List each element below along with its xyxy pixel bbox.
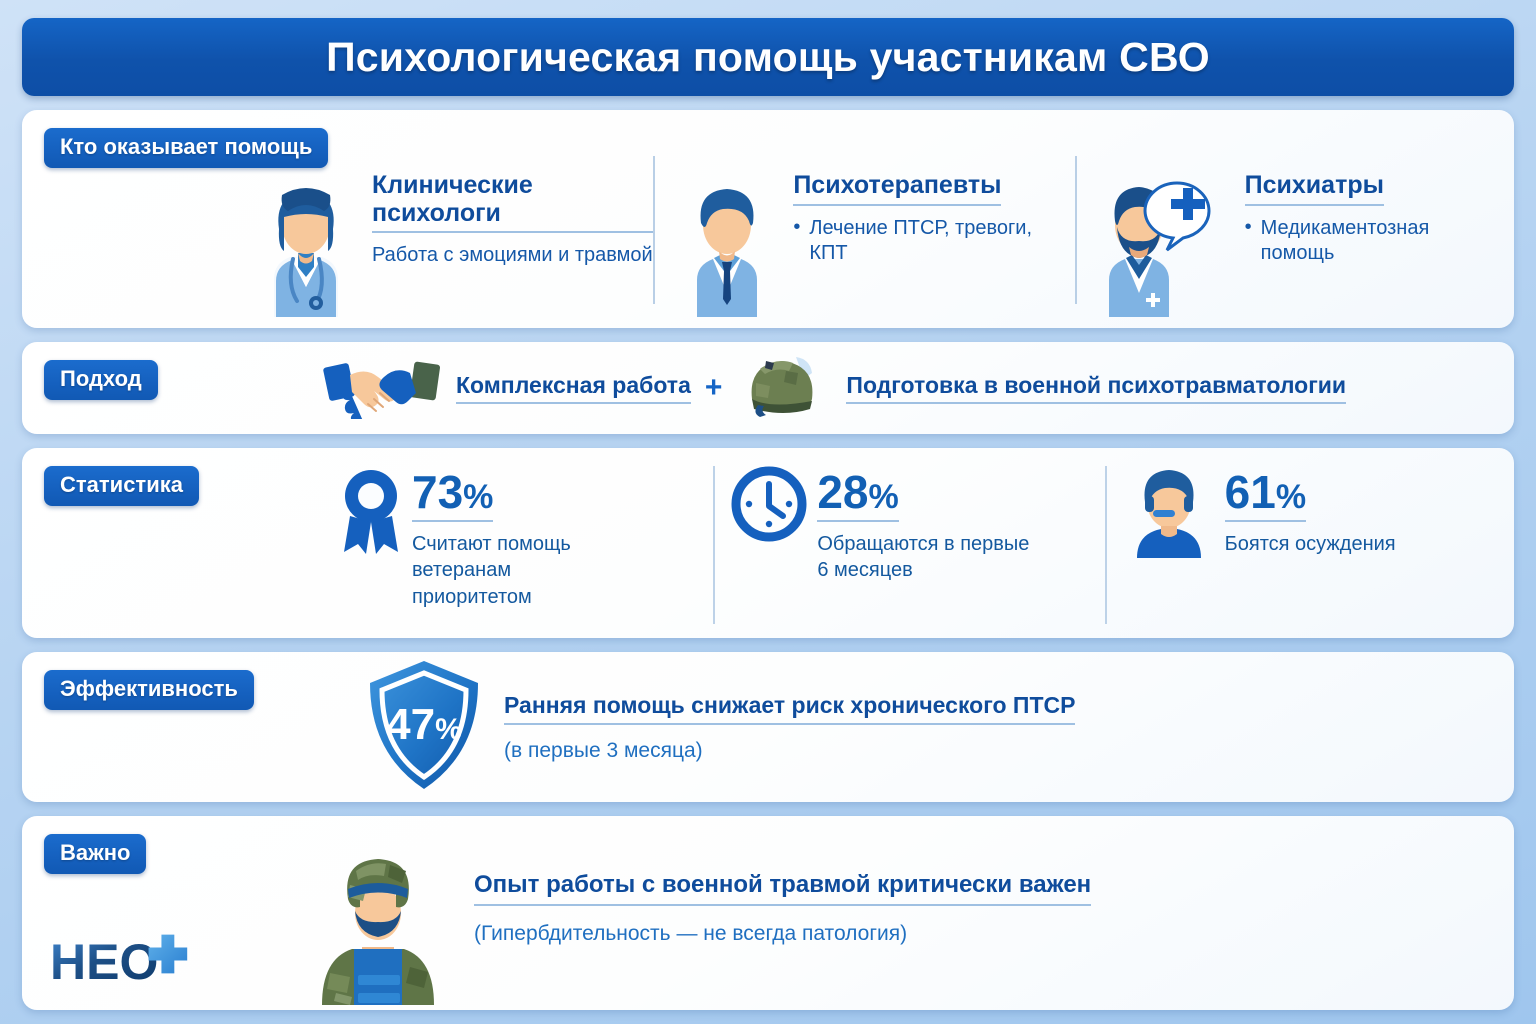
military-helmet-icon xyxy=(736,353,832,424)
important-row: Опыт работы с военной травмой критически… xyxy=(302,816,1496,1010)
section-badge-important: Важно xyxy=(44,834,146,874)
stat-value: 61% xyxy=(1225,470,1306,522)
clock-icon xyxy=(731,466,807,547)
plus-symbol: + xyxy=(705,371,723,405)
card-providers: Кто оказывает помощь xyxy=(22,110,1514,328)
stat-value: 28% xyxy=(817,470,898,522)
statistics-list: 73% Считают помощь ветеранам приоритетом… xyxy=(322,458,1496,630)
svg-text:НЕО: НЕО xyxy=(50,934,158,990)
effectiveness-row: 47% Ранняя помощь снижает риск хроническ… xyxy=(362,652,1496,802)
provider-text-block: Психотерапевты Лечение ПТСР, тревоги, КП… xyxy=(793,144,1074,267)
provider-bullet: Медикаментозная помощь xyxy=(1245,216,1496,267)
card-effectiveness: Эффективность 47% Ранн xyxy=(22,652,1514,802)
female-clinical-psychologist-icon xyxy=(246,167,366,322)
approach-row: Комплексная работа + Подготовка в военно… xyxy=(322,342,1496,434)
provider-bullets: Медикаментозная помощь xyxy=(1245,216,1496,267)
provider-title: Психиатры xyxy=(1245,172,1384,206)
approach-left-text: Комплексная работа xyxy=(456,372,691,404)
card-important: Важно xyxy=(22,816,1514,1010)
provider-title: Клинические психологи xyxy=(372,172,653,233)
card-approach: Подход Комплексная работа + xyxy=(22,342,1514,434)
stat-label: Обращаются в первые 6 месяцев xyxy=(817,531,1032,584)
section-badge-approach: Подход xyxy=(44,360,158,400)
important-text: Опыт работы с военной травмой критически… xyxy=(474,871,1091,956)
stat-item-fear-judgement: 61% Боятся осуждения xyxy=(1105,458,1496,638)
stat-item-priority: 73% Считают помощь ветеранам приоритетом xyxy=(322,458,713,638)
handshake-icon xyxy=(322,353,442,424)
soldier-icon xyxy=(302,855,454,1010)
provider-title: Психотерапевты xyxy=(793,172,1001,206)
provider-text-block: Клинические психологи Работа с эмоциями … xyxy=(372,144,653,269)
neo-plus-logo: НЕО xyxy=(48,933,208,996)
stat-body: 28% Обращаются в первые 6 месяцев xyxy=(817,466,1032,584)
effectiveness-subtext: (в первые 3 месяца) xyxy=(504,739,1075,763)
provider-description: Работа с эмоциями и травмой xyxy=(372,243,653,269)
stat-item-first-months: 28% Обращаются в первые 6 месяцев xyxy=(713,458,1104,638)
stat-value: 73% xyxy=(412,470,493,522)
provider-psychotherapists: Психотерапевты Лечение ПТСР, тревоги, КП… xyxy=(653,144,1074,322)
provider-text-block: Психиатры Медикаментозная помощь xyxy=(1245,144,1496,267)
shield-icon: 47% xyxy=(362,657,486,798)
stat-body: 61% Боятся осуждения xyxy=(1225,466,1396,557)
effectiveness-headline: Ранняя помощь снижает риск хронического … xyxy=(504,692,1075,725)
stat-label: Боятся осуждения xyxy=(1225,531,1396,557)
page-header: Психологическая помощь участникам СВО xyxy=(22,18,1514,96)
important-subtext: (Гипербдительность — не всегда патология… xyxy=(474,922,1091,946)
section-badge-statistics: Статистика xyxy=(44,466,199,506)
effectiveness-text: Ранняя помощь снижает риск хронического … xyxy=(504,692,1075,763)
card-statistics: Статистика 73% Считают помощь ветеранам … xyxy=(22,448,1514,638)
male-psychotherapist-icon xyxy=(667,167,787,322)
infographic-page: Психологическая помощь участникам СВО Кт… xyxy=(0,0,1536,1024)
stat-label: Считают помощь ветеранам приоритетом xyxy=(412,531,627,610)
person-headset-icon xyxy=(1123,466,1215,563)
section-badge-effectiveness: Эффективность xyxy=(44,670,254,710)
stat-body: 73% Считают помощь ветеранам приоритетом xyxy=(412,466,627,610)
provider-clinical-psychologists: Клинические психологи Работа с эмоциями … xyxy=(232,144,653,322)
provider-psychiatrists: Психиатры Медикаментозная помощь xyxy=(1075,144,1496,322)
important-headline: Опыт работы с военной травмой критически… xyxy=(474,871,1091,906)
provider-bullet: Лечение ПТСР, тревоги, КПТ xyxy=(793,216,1074,267)
page-title: Психологическая помощь участникам СВО xyxy=(326,34,1210,81)
bearded-psychiatrist-icon xyxy=(1089,167,1239,322)
approach-right-text: Подготовка в военной психотравматологии xyxy=(846,372,1346,404)
award-ribbon-icon xyxy=(340,466,402,567)
providers-list: Клинические психологи Работа с эмоциями … xyxy=(232,144,1496,322)
provider-bullets: Лечение ПТСР, тревоги, КПТ xyxy=(793,216,1074,267)
